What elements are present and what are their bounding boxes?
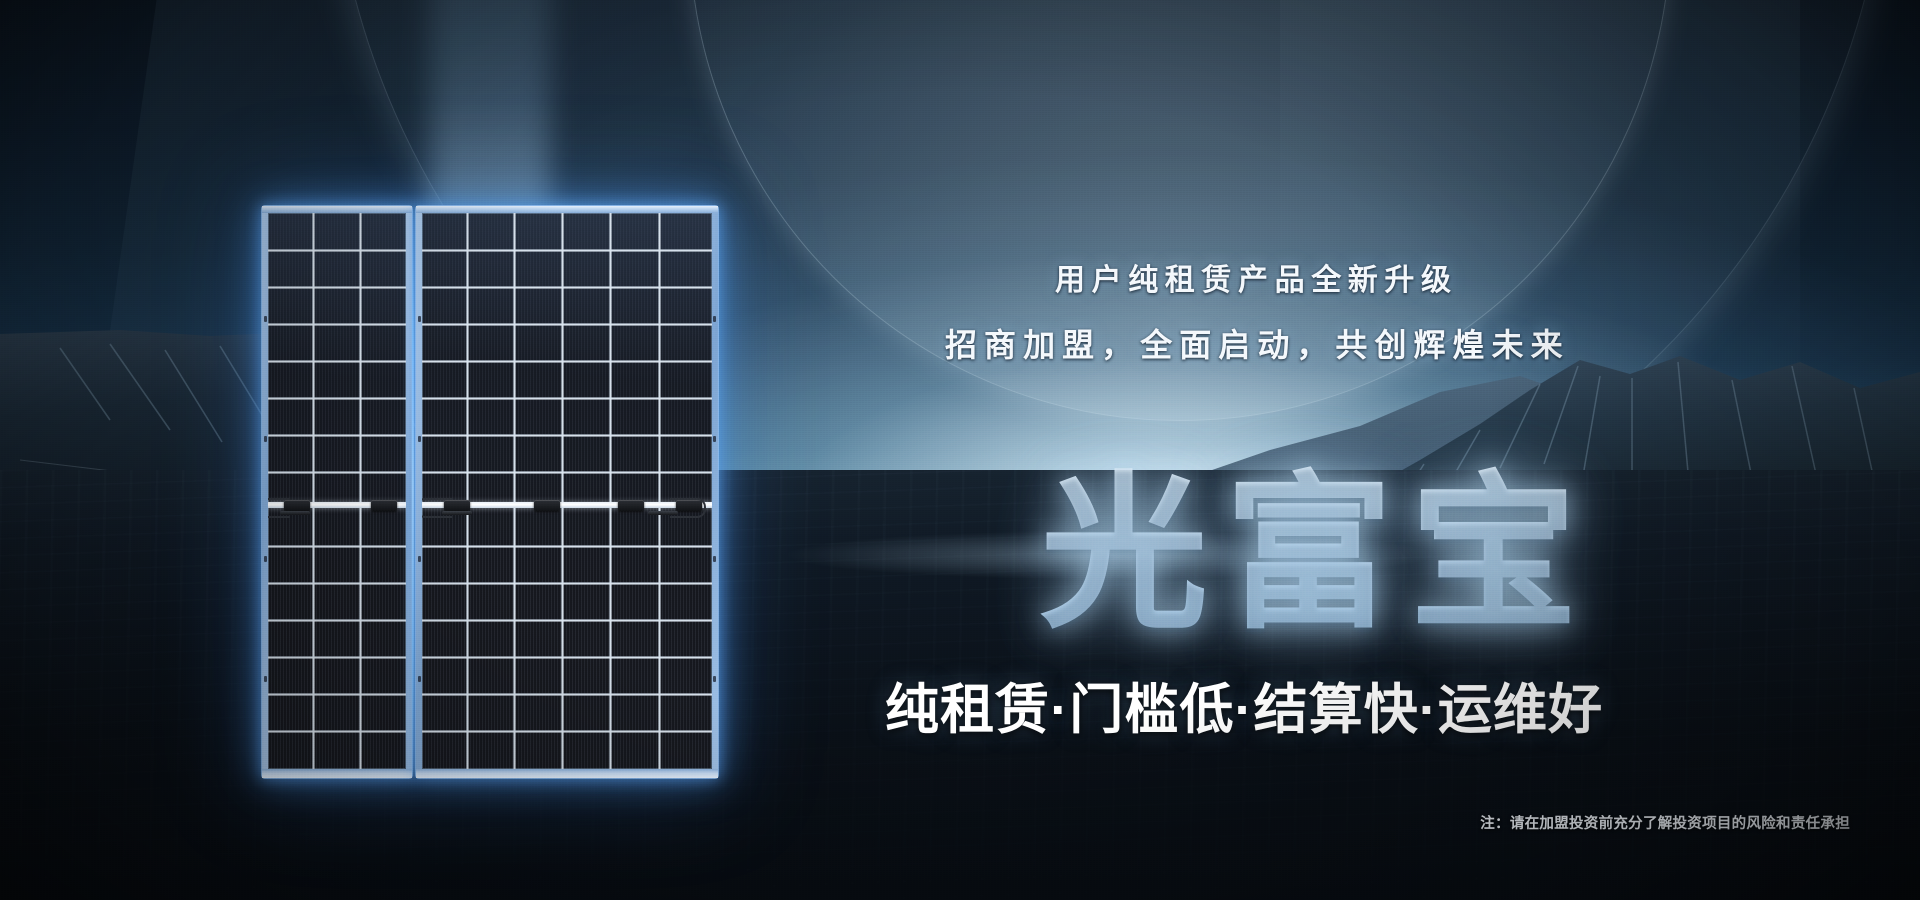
- panel-rail-bottom-right: [416, 769, 718, 778]
- panel-cable-tail: [648, 511, 678, 515]
- junction-box: [534, 500, 560, 511]
- panel-seam-glow: [412, 206, 414, 778]
- solar-panel-right-half: [416, 206, 718, 778]
- panel-rail-top-right: [416, 206, 718, 213]
- panel-cable: [268, 498, 290, 518]
- junction-box: [371, 500, 397, 511]
- junction-box: [618, 500, 644, 511]
- panel-glass-right: [422, 213, 712, 769]
- panel-cable: [422, 498, 452, 518]
- panel-cable-tail: [442, 511, 472, 515]
- panel-cell-grid-right: [422, 213, 712, 769]
- panel-glass-left: [268, 213, 406, 769]
- panel-cell-grid-left: [268, 213, 406, 769]
- panel-rail-top-left: [262, 206, 412, 213]
- promo-banner: 用户纯租赁产品全新升级 招商加盟，全面启动，共创辉煌未来 光富宝 纯租赁·门槛低…: [0, 0, 1920, 900]
- headline-primary: 用户纯租赁产品全新升级: [1055, 255, 1458, 299]
- brand-name-title: 光富宝: [1040, 418, 1594, 661]
- headline-secondary: 招商加盟，全面启动，共创辉煌未来: [945, 320, 1570, 366]
- panel-cable: [670, 498, 706, 518]
- panel-cable-tail: [280, 511, 310, 515]
- solar-panel: [262, 206, 718, 778]
- disclaimer-note: 注：请在加盟投资前充分了解投资项目的风险和责任承担: [1480, 812, 1850, 833]
- tagline-features: 纯租赁·门槛低·结算快·运维好: [885, 665, 1603, 744]
- panel-rail-bottom-left: [262, 769, 412, 778]
- solar-panel-left-half: [262, 206, 412, 778]
